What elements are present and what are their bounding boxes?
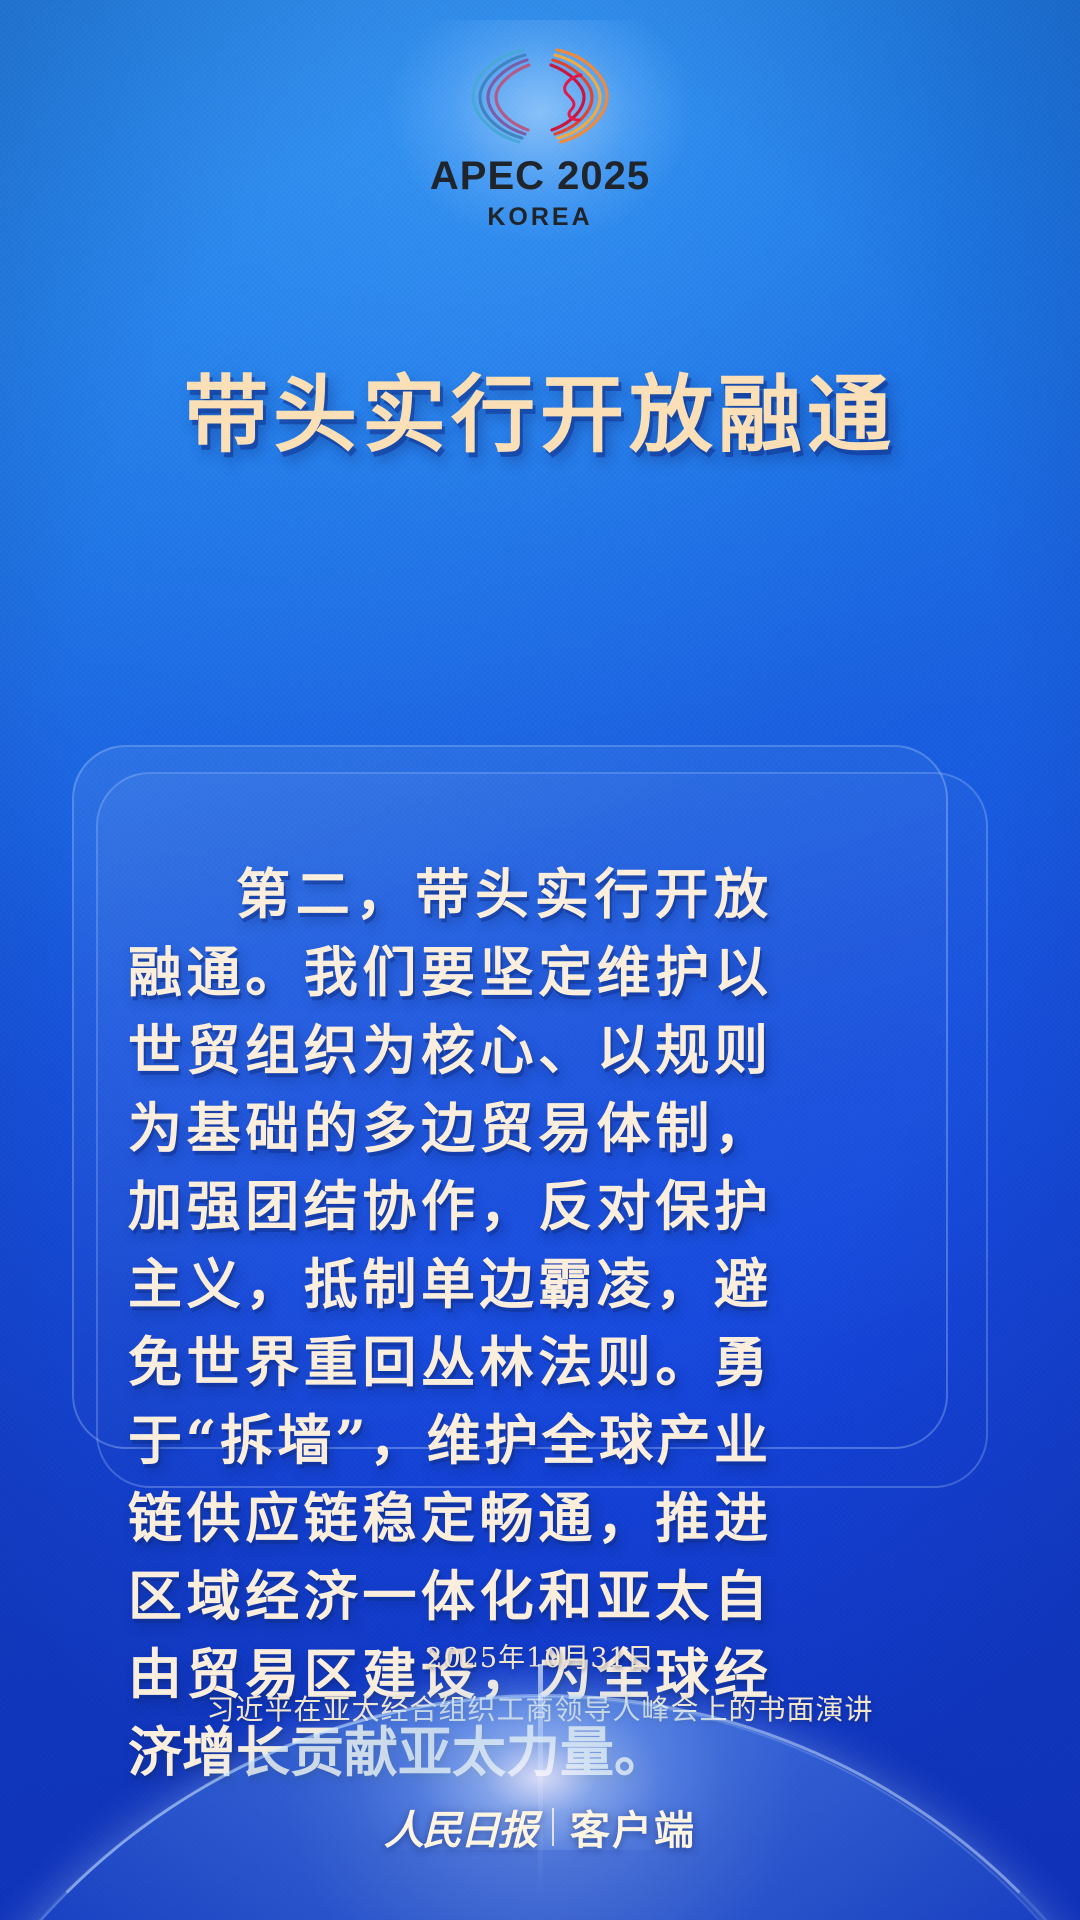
attribution-date: 2025年10月31日	[0, 1636, 1080, 1675]
brand-app-name: 客户端	[570, 1798, 696, 1856]
logo-subtitle: KOREA	[487, 205, 592, 230]
brand-separator	[552, 1808, 554, 1846]
footer-brand: 人民日报 客户端	[0, 1798, 1080, 1856]
page-title: 带头实行开放融通	[0, 348, 1080, 469]
logo-title: APEC 2025	[430, 156, 650, 196]
attribution-block: 2025年10月31日 习近平在亚太经合组织工商领导人峰会上的书面演讲	[0, 1636, 1080, 1728]
attribution-source: 习近平在亚太经合组织工商领导人峰会上的书面演讲	[0, 1688, 1080, 1728]
brand-peoples-daily-logo: 人民日报	[384, 1798, 536, 1856]
apec-logo-mark-icon	[445, 34, 635, 154]
apec-logo-block: APEC 2025 KOREA	[0, 34, 1080, 230]
apec-quote-poster: APEC 2025 KOREA 带头实行开放融通 第二，带头实行开放融通。我们要…	[0, 0, 1080, 1920]
